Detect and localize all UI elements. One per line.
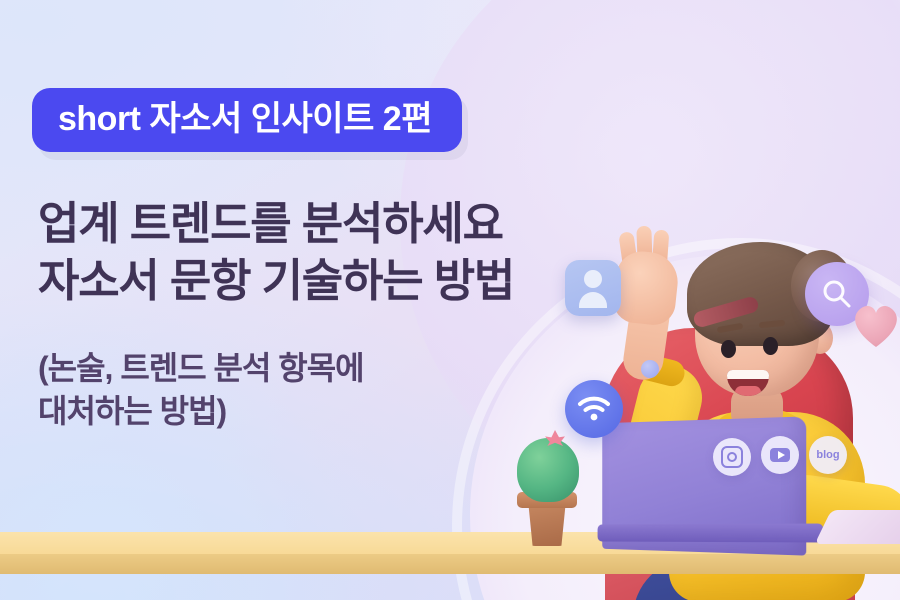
- dot-icon: [641, 360, 659, 378]
- blog-icon-label: blog: [816, 449, 839, 461]
- character-eye: [721, 340, 736, 358]
- profile-body-shape: [579, 292, 607, 308]
- series-badge: short 자소서 인사이트 2편: [32, 88, 462, 152]
- laptop-base: [598, 523, 824, 542]
- wifi-icon: [565, 380, 623, 438]
- profile-head-shape: [584, 270, 602, 288]
- mousepad: [815, 510, 900, 544]
- character-tongue: [735, 386, 761, 396]
- heart-icon: [851, 302, 900, 348]
- illustration: blog: [455, 180, 900, 600]
- badge-text: 자소서 인사이트 2편: [141, 100, 433, 138]
- blog-icon[interactable]: blog: [809, 436, 847, 474]
- character-raised-hand: [611, 249, 680, 327]
- promo-banner: short 자소서 인사이트 2편 업계 트렌드를 분석하세요 자소서 문항 기…: [0, 0, 900, 600]
- instagram-icon[interactable]: [713, 438, 751, 476]
- youtube-icon[interactable]: [761, 436, 799, 474]
- cactus-plant: [517, 438, 579, 502]
- desk-edge: [0, 554, 900, 574]
- badge-prefix: short: [58, 100, 141, 138]
- character-eye: [763, 337, 778, 355]
- character-teeth: [727, 370, 769, 379]
- profile-card-icon: [565, 260, 621, 316]
